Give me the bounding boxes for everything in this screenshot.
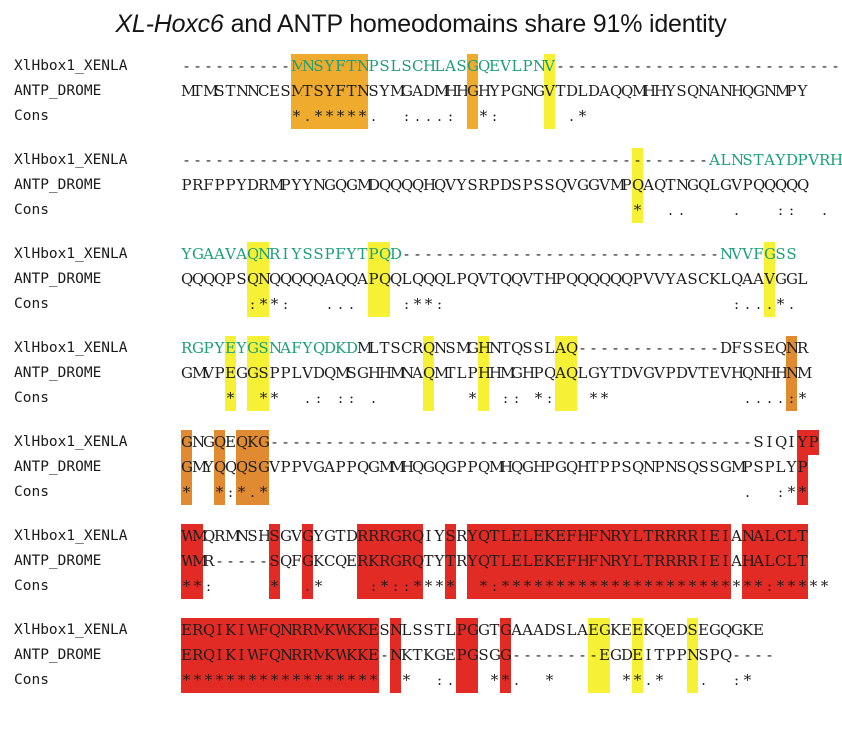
consensus-row: :**: ... :**: :...*. — [181, 292, 797, 317]
sequence-label: XlHbox1_XENLA — [14, 430, 181, 455]
sequence-label: ANTP_DROME — [14, 267, 181, 292]
sequence-label: ANTP_DROME — [14, 79, 181, 104]
alignment-row: Cons :**: ... :**: :...*. — [14, 292, 842, 317]
alignment-block: XlHbox1_XENLA----------MNSYFTNPSLSCHLASG… — [14, 54, 842, 129]
alignment-row: ANTP_DROMEGMYQQQSGVPPVGAPPQGMMHQGQGPPQMH… — [14, 455, 842, 480]
sequence-label: Cons — [14, 292, 181, 317]
alignment-row: ANTP_DROMEERQIKIWFQNRRMKWKKE-NKTKGEPGSGG… — [14, 643, 842, 668]
alignment-row: Cons* *:*.* . :** — [14, 480, 842, 505]
consensus-row: * ** .: :: . * :: *: ** ....:* — [181, 386, 808, 411]
alignment-row: ANTP_DROMEWMR-----SQFGKCQERKRGRQTYTRYQTL… — [14, 549, 842, 574]
alignment-row: ANTP_DROMEQQQQPSQNQQQQQAQQAPQQLQQQLPQVTQ… — [14, 267, 842, 292]
sequence-row-antp: PRFPPYDRMPYYNGQGMDQQQQHQVYSRPDSPSSQVGGVM… — [181, 173, 808, 198]
consensus-row: ****************** * :. **. * **.* . :* — [181, 668, 753, 693]
sequence-label: XlHbox1_XENLA — [14, 336, 181, 361]
alignment-row: ANTP_DROMEMTMSTNNCESMTSYFTNSYMGADMHHGHYP… — [14, 79, 842, 104]
alignment-blocks: XlHbox1_XENLA----------MNSYFTNPSLSCHLASG… — [0, 46, 842, 693]
sequence-label: Cons — [14, 104, 181, 129]
alignment-row: ANTP_DROMEPRFPPYDRMPYYNGQGMDQQQQHQVYSRPD… — [14, 173, 842, 198]
sequence-row-antp: MTMSTNNCESMTSYFTNSYMGADMHHGHYPGNGVTDLDAQ… — [181, 79, 808, 104]
sequence-label: XlHbox1_XENLA — [14, 54, 181, 79]
alignment-row: Cons * .. . :: . — [14, 198, 842, 223]
alignment-row: XlHbox1_XENLAERQIKIWFQNRRMKWKKESNLSSTLPG… — [14, 618, 842, 643]
sequence-row-xlhbox1: ERQIKIWFQNRRMKWKKESNLSSTLPGGTGAAADSLAEGK… — [181, 618, 764, 643]
sequence-label: ANTP_DROME — [14, 643, 181, 668]
alignment-row: Cons *.*****. :...: *: .* — [14, 104, 842, 129]
sequence-label: ANTP_DROME — [14, 455, 181, 480]
sequence-row-xlhbox1: WMQRMNSHSGVGYGTDRRRGRQIYSRYQTLELEKEFHFNR… — [181, 524, 808, 549]
alignment-row: XlHbox1_XENLAWMQRMNSHSGVGYGTDRRRGRQIYSRY… — [14, 524, 842, 549]
sequence-row-antp: ERQIKIWFQNRRMKWKKE-NKTKGEPGSGG--------EG… — [181, 643, 775, 668]
consensus-row: **: * .* :*::**** *:********************… — [181, 574, 830, 599]
alignment-row: XlHbox1_XENLAYGAAVAQNRIYSSPFYTPQD-------… — [14, 242, 842, 267]
sequence-label: Cons — [14, 480, 181, 505]
sequence-label: ANTP_DROME — [14, 173, 181, 198]
alignment-row: XlHbox1_XENLA---------------------------… — [14, 148, 842, 173]
alignment-block: XlHbox1_XENLAYGAAVAQNRIYSSPFYTPQD-------… — [14, 242, 842, 317]
page-title: XL-Hoxc6and ANTP homeodomains share 91% … — [0, 0, 842, 46]
alignment-row: Cons****************** * :. **. * **.* .… — [14, 668, 842, 693]
alignment-block: XlHbox1_XENLAGNGQEQKG-------------------… — [14, 430, 842, 505]
alignment-row: Cons * ** .: :: . * :: *: ** ....:* — [14, 386, 842, 411]
alignment-row: XlHbox1_XENLA----------MNSYFTNPSLSCHLASG… — [14, 54, 842, 79]
sequence-row-xlhbox1: YGAAVAQNRIYSSPFYTPQD--------------------… — [181, 242, 797, 267]
title-rest: and ANTP homeodomains share 91% identity — [231, 10, 727, 38]
sequence-row-antp: QQQQPSQNQQQQQAQQAPQQLQQQLPQVTQQVTHPQQQQQ… — [181, 267, 808, 292]
sequence-row-xlhbox1: ----------------------------------------… — [181, 148, 842, 173]
sequence-label: Cons — [14, 198, 181, 223]
sequence-label: XlHbox1_XENLA — [14, 242, 181, 267]
sequence-row-xlhbox1: ----------MNSYFTNPSLSCHLASGQEVLPNV------… — [181, 54, 841, 79]
alignment-row: ANTP_DROMEGMVPEGGSPPLVDQMSGHHMNAQMTLPHHM… — [14, 361, 842, 386]
consensus-row: *.*****. :...: *: .* — [181, 104, 830, 129]
sequence-label: ANTP_DROME — [14, 361, 181, 386]
alignment-block: XlHbox1_XENLAWMQRMNSHSGVGYGTDRRRGRQIYSRY… — [14, 524, 842, 599]
sequence-label: ANTP_DROME — [14, 549, 181, 574]
sequence-row-antp: WMR-----SQFGKCQERKRGRQTYTRYQTLELEKEFHFNR… — [181, 549, 808, 574]
sequence-row-antp: GMVPEGGSPPLVDQMSGHHMNAQMTLPHHMGHPQAQLGYT… — [181, 361, 808, 386]
consensus-row: * *:*.* . :** — [181, 480, 808, 505]
sequence-row-xlhbox1: RGPYEYGSNAFYQDKDMLTSCRQNSMGHNTQSSLAQ----… — [181, 336, 808, 361]
alignment-block: XlHbox1_XENLA---------------------------… — [14, 148, 842, 223]
sequence-row-antp: GMYQQQSGVPPVGAPPQGMMHQGQGPPQMHQGHPGQHTPP… — [181, 455, 808, 480]
alignment-row: Cons**: * .* :*::**** *:****************… — [14, 574, 842, 599]
sequence-label: Cons — [14, 668, 181, 693]
gene-name: XL-Hoxc6 — [115, 10, 223, 38]
alignment-row: XlHbox1_XENLARGPYEYGSNAFYQDKDMLTSCRQNSMG… — [14, 336, 842, 361]
consensus-row: * .. . :: . — [181, 198, 830, 223]
sequence-label: XlHbox1_XENLA — [14, 618, 181, 643]
alignment-block: XlHbox1_XENLAERQIKIWFQNRRMKWKKESNLSSTLPG… — [14, 618, 842, 693]
sequence-label: XlHbox1_XENLA — [14, 148, 181, 173]
sequence-label: Cons — [14, 574, 181, 599]
alignment-block: XlHbox1_XENLARGPYEYGSNAFYQDKDMLTSCRQNSMG… — [14, 336, 842, 411]
sequence-label: Cons — [14, 386, 181, 411]
alignment-row: XlHbox1_XENLAGNGQEQKG-------------------… — [14, 430, 842, 455]
alignment-figure: XL-Hoxc6and ANTP homeodomains share 91% … — [0, 0, 842, 737]
sequence-label: XlHbox1_XENLA — [14, 524, 181, 549]
sequence-row-xlhbox1: GNGQEQKG--------------------------------… — [181, 430, 819, 455]
